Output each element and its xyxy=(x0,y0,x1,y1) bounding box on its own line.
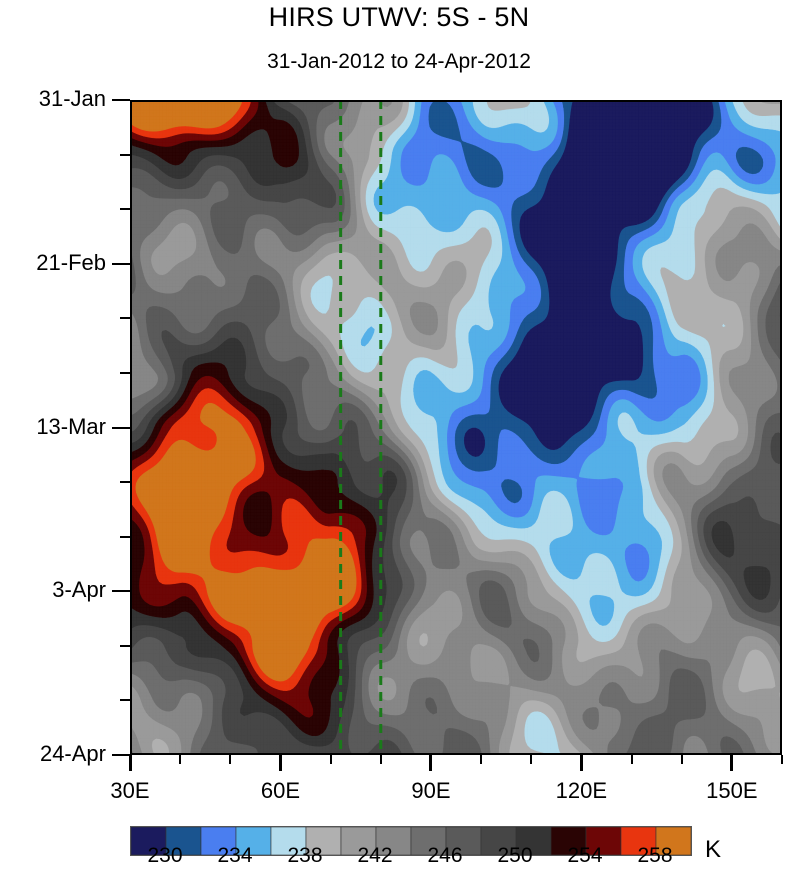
x-axis-minor-tick xyxy=(179,755,181,764)
y-axis-minor-tick xyxy=(120,645,130,647)
y-axis-minor-tick xyxy=(120,317,130,319)
y-axis-label: 24-Apr xyxy=(0,743,106,765)
x-axis-minor-tick xyxy=(681,755,683,764)
y-axis-minor-tick xyxy=(120,372,130,374)
x-axis-major-tick xyxy=(279,755,282,771)
y-axis-major-tick xyxy=(112,427,130,429)
contour-field xyxy=(130,100,782,755)
x-axis-minor-tick xyxy=(530,755,532,764)
colorbar-tick-label: 238 xyxy=(265,845,345,866)
y-axis-minor-tick xyxy=(120,481,130,483)
y-axis-minor-tick xyxy=(120,208,130,210)
x-axis-minor-tick xyxy=(480,755,482,764)
colorbar-tick-label: 258 xyxy=(615,845,695,866)
y-axis-label: 13-Mar xyxy=(0,416,106,438)
y-axis-minor-tick xyxy=(120,536,130,538)
x-axis-major-tick xyxy=(580,755,583,771)
x-axis-minor-tick xyxy=(380,755,382,764)
hovmoller-plot-area[interactable] xyxy=(130,100,782,755)
x-axis-major-tick xyxy=(730,755,733,771)
y-axis-label: 31-Jan xyxy=(0,88,106,110)
colorbar-unit-label: K xyxy=(705,836,721,864)
y-axis-major-tick xyxy=(112,263,130,265)
colorbar-tick-label: 246 xyxy=(405,845,485,866)
x-axis-major-tick xyxy=(129,755,132,771)
chart-subtitle: 31-Jan-2012 to 24-Apr-2012 xyxy=(0,50,798,74)
y-axis-minor-tick xyxy=(120,699,130,701)
y-axis-major-tick xyxy=(112,590,130,592)
colorbar-tick-label: 254 xyxy=(545,845,625,866)
x-axis-major-tick xyxy=(429,755,432,771)
x-axis-label: 90E xyxy=(371,780,491,802)
x-axis-label: 120E xyxy=(521,780,641,802)
colorbar-tick-label: 250 xyxy=(475,845,555,866)
x-axis-label: 60E xyxy=(220,780,340,802)
y-axis-major-tick xyxy=(112,99,130,101)
colorbar-tick-label: 234 xyxy=(195,845,275,866)
x-axis-label: 150E xyxy=(672,780,792,802)
x-axis-minor-tick xyxy=(330,755,332,764)
x-axis-minor-tick xyxy=(631,755,633,764)
colorbar-tick-label: 230 xyxy=(125,845,205,866)
chart-title: HIRS UTWV: 5S - 5N xyxy=(0,2,798,33)
x-axis-minor-tick xyxy=(781,755,783,764)
colorbar-tick-label: 242 xyxy=(335,845,415,866)
x-axis-minor-tick xyxy=(229,755,231,764)
y-axis-label: 21-Feb xyxy=(0,252,106,274)
x-axis-label: 30E xyxy=(70,780,190,802)
y-axis-label: 3-Apr xyxy=(0,579,106,601)
y-axis-major-tick xyxy=(112,754,130,756)
y-axis-minor-tick xyxy=(120,154,130,156)
